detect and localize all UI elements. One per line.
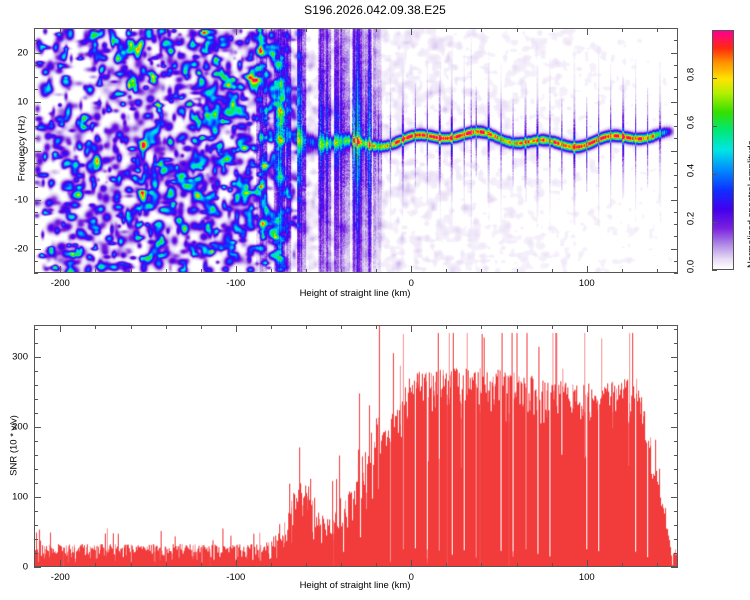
tick-mark xyxy=(587,266,588,273)
tick-mark xyxy=(674,455,678,456)
tick-mark xyxy=(622,269,623,273)
tick-mark xyxy=(517,563,518,567)
tick-mark xyxy=(674,224,678,225)
tick-mark xyxy=(131,325,132,329)
tick-mark xyxy=(34,567,41,568)
tick-mark xyxy=(674,28,678,29)
tick-mark xyxy=(34,151,41,152)
tick-mark xyxy=(411,266,412,273)
tick-mark xyxy=(341,563,342,567)
tick-mark xyxy=(34,126,38,127)
tick-mark xyxy=(34,441,38,442)
tick-mark xyxy=(306,325,307,329)
tick-mark xyxy=(674,441,678,442)
colorbar-tick-mark xyxy=(712,270,717,271)
tick-mark xyxy=(95,325,96,329)
colorbar-tick-label: 0.4 xyxy=(686,162,697,180)
tick-mark xyxy=(671,567,678,568)
tick-mark xyxy=(411,28,412,35)
y-tick-label: -20 xyxy=(0,243,28,254)
tick-mark xyxy=(34,483,38,484)
tick-mark xyxy=(34,212,38,213)
tick-mark xyxy=(34,343,38,344)
tick-mark xyxy=(166,269,167,273)
tick-mark xyxy=(34,511,38,512)
tick-mark xyxy=(552,28,553,32)
tick-mark xyxy=(60,28,61,35)
tick-mark xyxy=(34,53,41,54)
tick-mark xyxy=(674,236,678,237)
tick-mark xyxy=(341,269,342,273)
tick-mark xyxy=(34,329,38,330)
y-tick-label: 300 xyxy=(0,351,28,362)
tick-mark xyxy=(95,563,96,567)
tick-mark xyxy=(376,563,377,567)
tick-mark xyxy=(674,385,678,386)
tick-mark xyxy=(201,28,202,32)
y-tick-label: 20 xyxy=(0,47,28,58)
colorbar-title-label: Normalized spectral amplitude xyxy=(746,140,750,268)
tick-mark xyxy=(34,399,38,400)
tick-mark xyxy=(622,563,623,567)
tick-mark xyxy=(236,266,237,273)
tick-mark xyxy=(34,77,38,78)
colorbar xyxy=(712,30,734,270)
tick-mark xyxy=(376,325,377,329)
tick-mark xyxy=(671,53,678,54)
tick-mark xyxy=(674,371,678,372)
tick-mark xyxy=(34,469,38,470)
tick-mark xyxy=(657,563,658,567)
tick-mark xyxy=(271,269,272,273)
tick-mark xyxy=(517,325,518,329)
tick-mark xyxy=(674,413,678,414)
tick-mark xyxy=(481,269,482,273)
colorbar-tick-label: 0.8 xyxy=(686,66,697,84)
tick-mark xyxy=(674,77,678,78)
x-tick-label: -200 xyxy=(51,278,70,289)
tick-mark xyxy=(552,325,553,329)
tick-mark xyxy=(657,28,658,32)
snr-canvas xyxy=(35,326,677,566)
tick-mark xyxy=(674,261,678,262)
tick-mark xyxy=(34,261,38,262)
colorbar-gradient xyxy=(713,31,733,269)
tick-mark xyxy=(34,187,38,188)
tick-mark xyxy=(674,539,678,540)
tick-mark xyxy=(34,163,38,164)
tick-mark xyxy=(657,269,658,273)
colorbar-tick-mark xyxy=(712,222,717,223)
tick-mark xyxy=(674,138,678,139)
tick-mark xyxy=(674,212,678,213)
tick-mark xyxy=(34,525,38,526)
tick-mark xyxy=(674,126,678,127)
spectrogram-panel xyxy=(34,28,678,273)
tick-mark xyxy=(60,560,61,567)
tick-mark xyxy=(674,329,678,330)
tick-mark xyxy=(34,357,41,358)
tick-mark xyxy=(481,325,482,329)
tick-mark xyxy=(674,525,678,526)
colorbar-tick-label: 0.0 xyxy=(686,258,697,276)
tick-mark xyxy=(657,325,658,329)
colorbar-tick-label: 0.2 xyxy=(686,210,697,228)
y-tick-label: 0 xyxy=(0,562,28,573)
tick-mark xyxy=(271,563,272,567)
tick-mark xyxy=(587,28,588,35)
tick-mark xyxy=(341,325,342,329)
tick-mark xyxy=(166,28,167,32)
spectrogram-x-axis-label: Height of straight line (km) xyxy=(190,288,520,299)
tick-mark xyxy=(34,175,38,176)
tick-mark xyxy=(674,114,678,115)
tick-mark xyxy=(376,28,377,32)
tick-mark xyxy=(34,413,38,414)
tick-mark xyxy=(34,236,38,237)
tick-mark xyxy=(236,560,237,567)
tick-mark xyxy=(674,273,678,274)
figure-root: S196.2026.042.09.38.E25 -200-1000100-20-… xyxy=(0,0,750,600)
colorbar-tick-mark xyxy=(712,174,717,175)
tick-mark xyxy=(622,325,623,329)
tick-mark xyxy=(671,357,678,358)
tick-mark xyxy=(95,28,96,32)
tick-mark xyxy=(201,325,202,329)
tick-mark xyxy=(34,114,38,115)
tick-mark xyxy=(34,89,38,90)
tick-mark xyxy=(131,563,132,567)
tick-mark xyxy=(674,89,678,90)
tick-mark xyxy=(34,224,38,225)
tick-mark xyxy=(446,28,447,32)
tick-mark xyxy=(34,28,38,29)
tick-mark xyxy=(34,65,38,66)
spectrogram-canvas xyxy=(35,29,677,272)
tick-mark xyxy=(34,539,38,540)
tick-mark xyxy=(236,325,237,332)
tick-mark xyxy=(671,200,678,201)
tick-mark xyxy=(131,269,132,273)
tick-mark xyxy=(34,427,41,428)
tick-mark xyxy=(60,325,61,332)
tick-mark xyxy=(34,102,41,103)
tick-mark xyxy=(166,563,167,567)
tick-mark xyxy=(34,40,38,41)
figure-title: S196.2026.042.09.38.E25 xyxy=(0,3,750,17)
tick-mark xyxy=(674,511,678,512)
tick-mark xyxy=(201,269,202,273)
tick-mark xyxy=(481,28,482,32)
tick-mark xyxy=(674,343,678,344)
tick-mark xyxy=(671,102,678,103)
tick-mark xyxy=(236,28,237,35)
snr-panel xyxy=(34,325,678,567)
tick-mark xyxy=(306,563,307,567)
tick-mark xyxy=(34,249,41,250)
x-tick-label: 100 xyxy=(579,572,595,583)
tick-mark xyxy=(446,325,447,329)
tick-mark xyxy=(671,427,678,428)
tick-mark xyxy=(674,187,678,188)
tick-mark xyxy=(587,560,588,567)
tick-mark xyxy=(60,266,61,273)
tick-mark xyxy=(622,28,623,32)
tick-mark xyxy=(34,455,38,456)
tick-mark xyxy=(34,371,38,372)
tick-mark xyxy=(306,269,307,273)
x-tick-label: -200 xyxy=(51,572,70,583)
spectrogram-y-axis-label: Frequency (Hz) xyxy=(17,89,28,209)
tick-mark xyxy=(517,269,518,273)
tick-mark xyxy=(517,28,518,32)
tick-mark xyxy=(674,175,678,176)
tick-mark xyxy=(552,563,553,567)
tick-mark xyxy=(674,469,678,470)
tick-mark xyxy=(271,325,272,329)
tick-mark xyxy=(587,325,588,332)
tick-mark xyxy=(166,325,167,329)
snr-y-axis-label: SNR (10 * v/v) xyxy=(9,386,20,506)
tick-mark xyxy=(306,28,307,32)
tick-mark xyxy=(411,560,412,567)
snr-x-axis-label: Height of straight line (km) xyxy=(190,580,520,591)
tick-mark xyxy=(34,200,41,201)
tick-mark xyxy=(131,28,132,32)
tick-mark xyxy=(411,325,412,332)
tick-mark xyxy=(674,483,678,484)
tick-mark xyxy=(674,163,678,164)
colorbar-tick-mark xyxy=(712,78,717,79)
tick-mark xyxy=(34,385,38,386)
x-tick-label: 100 xyxy=(579,278,595,289)
tick-mark xyxy=(674,65,678,66)
tick-mark xyxy=(674,399,678,400)
tick-mark xyxy=(376,269,377,273)
tick-mark xyxy=(446,563,447,567)
tick-mark xyxy=(481,563,482,567)
colorbar-tick-mark xyxy=(712,126,717,127)
tick-mark xyxy=(34,497,41,498)
tick-mark xyxy=(95,269,96,273)
tick-mark xyxy=(674,40,678,41)
tick-mark xyxy=(341,28,342,32)
tick-mark xyxy=(271,28,272,32)
tick-mark xyxy=(674,553,678,554)
tick-mark xyxy=(671,151,678,152)
tick-mark xyxy=(552,269,553,273)
tick-mark xyxy=(34,273,38,274)
tick-mark xyxy=(671,497,678,498)
tick-mark xyxy=(671,249,678,250)
tick-mark xyxy=(34,138,38,139)
tick-mark xyxy=(34,553,38,554)
tick-mark xyxy=(201,563,202,567)
colorbar-tick-label: 0.6 xyxy=(686,114,697,132)
tick-mark xyxy=(446,269,447,273)
